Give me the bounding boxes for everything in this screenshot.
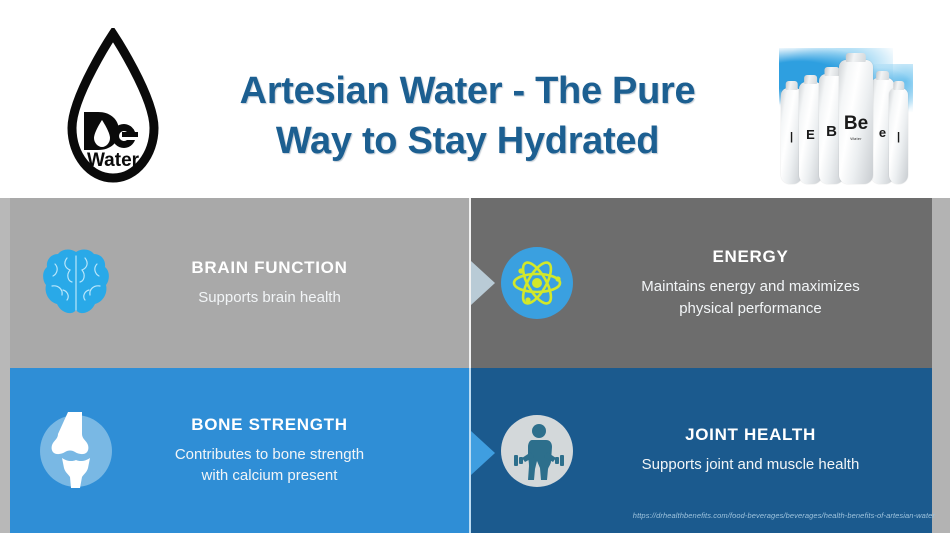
source-url[interactable]: https://drhealthbenefits.com/food-bevera… (600, 511, 935, 520)
benefit-description-line2: physical performance (603, 298, 898, 319)
bottle-side-glyph: E (806, 128, 815, 141)
infographic-slide: Water Artesian Water - The Pure Way to S… (0, 0, 950, 533)
bottle-label-sub: Water (850, 136, 862, 141)
page-title: Artesian Water - The Pure Way to Stay Hy… (175, 66, 760, 166)
benefit-description-line1: Maintains energy and maximizes (603, 276, 898, 297)
chevron-right-icon-top (471, 261, 495, 305)
droplet-logo-svg: Water (58, 28, 168, 188)
benefit-text-bone-strength: BONE STRENGTH Contributes to bone streng… (142, 415, 471, 487)
benefits-grid: BRAIN FUNCTION Supports brain health (10, 198, 932, 533)
benefit-title: BONE STRENGTH (142, 415, 397, 435)
bottle-cap (876, 71, 890, 80)
benefit-title: JOINT HEALTH (603, 425, 898, 445)
header-band: Water Artesian Water - The Pure Way to S… (0, 0, 950, 198)
bottle-side-glyph: | (790, 132, 793, 143)
benefit-card-energy[interactable]: ENERGY Maintains energy and maximizes ph… (471, 198, 932, 368)
svg-text:Water: Water (87, 150, 140, 171)
benefit-card-brain-function[interactable]: BRAIN FUNCTION Supports brain health (10, 198, 471, 368)
bottle-cap (824, 67, 839, 76)
bottle-cap (785, 81, 798, 90)
benefit-text-energy: ENERGY Maintains energy and maximizes ph… (603, 247, 932, 319)
bottle-side-glyph: | (897, 132, 900, 143)
right-margin-strip (932, 198, 950, 533)
knee-joint-icon-circle (40, 415, 112, 487)
benefit-description: Supports brain health (142, 287, 397, 308)
brain-icon-wrap (10, 243, 142, 323)
knee-joint-icon-wrap (10, 415, 142, 487)
chevron-right-icon-bottom (471, 431, 495, 475)
atom-icon (509, 255, 565, 311)
weightlifter-icon-circle (501, 415, 573, 487)
bottle-cap (804, 75, 818, 84)
weightlifter-dumbbell-icon (506, 420, 568, 482)
benefit-description-line1: Contributes to bone strength (142, 444, 397, 465)
page-title-line2: Way to Stay Hydrated (175, 116, 760, 166)
benefit-description-line2: with calcium present (142, 465, 397, 486)
bottle-cap (846, 53, 866, 62)
page-title-line1: Artesian Water - The Pure (175, 66, 760, 116)
benefit-text-brain-function: BRAIN FUNCTION Supports brain health (142, 258, 471, 308)
bottle-label-main: Be (844, 114, 868, 133)
atom-icon-circle (501, 247, 573, 319)
bottle-side-glyph: B (826, 124, 837, 139)
benefit-title: ENERGY (603, 247, 898, 267)
knee-joint-bone-icon (46, 412, 106, 488)
benefit-description: Contributes to bone strength with calciu… (142, 444, 397, 487)
brain-icon (36, 243, 116, 323)
left-margin-strip (0, 198, 10, 533)
be-water-droplet-logo: Water (58, 28, 168, 188)
benefit-card-joint-health[interactable]: JOINT HEALTH Supports joint and muscle h… (471, 368, 932, 533)
bottle-side-glyph: e (879, 126, 886, 139)
bottle-cap (893, 81, 904, 90)
bottle-front: Be Water (839, 60, 873, 184)
benefit-card-bone-strength[interactable]: BONE STRENGTH Contributes to bone streng… (10, 368, 471, 533)
benefit-text-joint-health: JOINT HEALTH Supports joint and muscle h… (603, 425, 932, 475)
benefit-title: BRAIN FUNCTION (142, 258, 397, 278)
benefit-description: Maintains energy and maximizes physical … (603, 276, 898, 319)
bottle-back-5: | (889, 88, 908, 184)
benefit-description: Supports joint and muscle health (603, 454, 898, 475)
brain-icon-svg (37, 244, 115, 322)
be-water-bottles-photo: | E B Be Water e | (779, 46, 913, 190)
